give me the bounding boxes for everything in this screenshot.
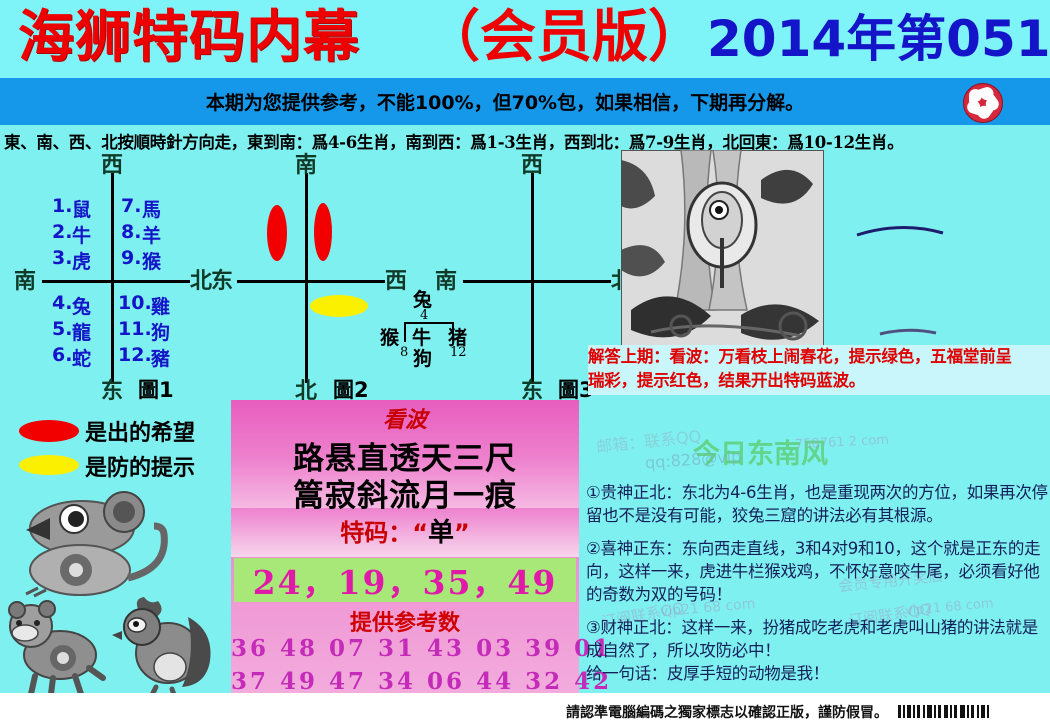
fig1-zodiac-8n: 8.	[121, 221, 141, 243]
fig1-zodiac-3: 虎	[72, 247, 91, 274]
fig1-zodiac-3n: 3.	[52, 247, 72, 269]
zodiac-cluster: 兔 4 猴 8 牛 猪 12 狗	[380, 285, 500, 395]
fig2-yellow-oval	[310, 295, 368, 317]
hongkong-bauhinia-emblem-icon	[963, 83, 1003, 123]
prediction-panel: 看波 路悬直透天三尺 篙寂斜流月一痕 特码：“单” 24，19，35，49 提供…	[231, 400, 579, 710]
fig1-zodiac-11: 狗	[151, 318, 170, 345]
fig2-dir-top: 南	[295, 147, 317, 179]
decorative-arc-1	[855, 222, 945, 238]
rat-illustration	[20, 490, 180, 600]
cluster-left: 猴	[380, 323, 399, 350]
fig1-zodiac-11n: 11.	[118, 318, 152, 340]
footer-notice: 請認準電腦編碼之獨家標志以確認正版，謹防假冒。	[566, 702, 888, 722]
fig1-dir-right: 北	[190, 263, 212, 295]
fig1-zodiac-12: 豬	[151, 344, 170, 371]
fig1-label: 圖1	[138, 374, 174, 404]
tiger-illustration	[5, 600, 110, 695]
fig1-zodiac-5: 龍	[72, 318, 91, 345]
page-title: 海狮特码内幕	[18, 7, 360, 69]
footer-bar	[0, 700, 1050, 725]
cluster-bottom: 狗	[413, 344, 432, 371]
notice-banner-text: 本期为您提供参考，不能100%，但70%包，如果相信，下期再分解。	[0, 78, 1010, 125]
cluster-left-num: 8	[400, 345, 408, 360]
reference-row-1: 36 48 07 31 43 03 39 01	[231, 635, 579, 662]
title-edition: （会员版）	[424, 7, 704, 69]
fig2-red-oval-left	[267, 205, 287, 261]
answer-line-1: 解答上期：看波：万看枝上闹春花，提示绿色，五福堂前呈	[588, 345, 1050, 369]
big-numbers: 24，19，35，49	[234, 558, 576, 602]
tema-value: 单	[428, 518, 454, 548]
watermark-faint-1: 邮箱：联系QQ	[595, 423, 702, 458]
tema-line: 特码：“单”	[231, 512, 579, 549]
fig1-zodiac-4n: 4.	[52, 292, 72, 314]
fig1-zodiac-4: 兔	[72, 292, 91, 319]
legend-label-red: 是出的希望	[85, 415, 195, 447]
watermark-today-wind: 今日东南风	[693, 432, 828, 471]
tema-quote-open: “	[412, 519, 428, 547]
analysis-note-4: 给一句话：皮厚手短的动物是我！	[586, 662, 1050, 685]
fig1-zodiac-9: 猴	[142, 247, 161, 274]
fig1-zodiac-7n: 7.	[121, 195, 141, 217]
answer-line-2: 瑞彩，提示红色，结果开出特码蓝波。	[588, 369, 1050, 393]
barcode-icon	[898, 705, 990, 718]
yellow-oval-icon	[19, 455, 79, 475]
figure-1: 西 南 北 东 圖1 1. 鼠 2. 牛 3. 虎 4. 兔 5. 龍 6. 蛇…	[0, 155, 215, 405]
red-oval-icon	[19, 420, 79, 442]
reference-row-2: 37 49 47 34 06 44 32 42	[231, 668, 579, 695]
kanbo-label: 看波	[231, 402, 579, 434]
fig1-zodiac-12n: 12.	[118, 344, 152, 366]
fig1-zodiac-2: 牛	[72, 221, 91, 248]
fig1-zodiac-6n: 6.	[52, 344, 72, 366]
fig1-zodiac-5n: 5.	[52, 318, 72, 340]
fig1-dir-top: 西	[101, 147, 123, 179]
analysis-note-1: ①贵神正北：东北为4-6生肖，也是重现两次的方位，如果再次停留也不是没有可能，狡…	[586, 481, 1050, 527]
analysis-note-3: ③财神正北：这样一来，扮猪成吃老虎和老虎叫山猪的讲法就是成自然了，所以攻防必中！	[586, 616, 1050, 662]
fig1-zodiac-6: 蛇	[72, 344, 91, 371]
issue-number: 2014年第051期	[707, 10, 1050, 68]
fig1-zodiac-9n: 9.	[121, 247, 141, 269]
fig3-dir-top: 西	[521, 147, 543, 179]
title-bar: 海狮特码内幕 （会员版） 2014年第051期	[0, 0, 1050, 78]
cluster-top-num: 4	[420, 308, 428, 323]
fig1-zodiac-7: 馬	[142, 195, 161, 222]
analysis-notes: ①贵神正北：东北为4-6生肖，也是重现两次的方位，如果再次停留也不是没有可能，狡…	[586, 481, 1050, 695]
fig2-red-oval-right	[314, 203, 332, 261]
dragon-temple-illustration	[621, 150, 824, 350]
cluster-right-num: 12	[450, 345, 467, 360]
fig1-zodiac-2n: 2.	[52, 221, 72, 243]
fig1-zodiac-1n: 1.	[52, 195, 72, 217]
rooster-illustration	[110, 595, 225, 695]
reference-heading: 提供参考数	[231, 605, 579, 637]
fig2-dir-left: 东	[211, 263, 233, 295]
fig1-zodiac-1: 鼠	[72, 195, 91, 222]
previous-issue-answer: 解答上期：看波：万看枝上闹春花，提示绿色，五福堂前呈 瑞彩，提示红色，结果开出特…	[588, 345, 1050, 395]
fig1-zodiac-10: 雞	[151, 292, 170, 319]
tema-quote-close: ”	[454, 519, 470, 547]
decorative-arc-2	[878, 328, 938, 338]
fig1-dir-left: 南	[14, 263, 36, 295]
fig1-dir-bottom: 东	[101, 373, 123, 405]
fig1-zodiac-10n: 10.	[118, 292, 152, 314]
analysis-note-2: ②喜神正东：东向西走直线，3和4对9和10，这个就是正东的走向，这样一来，虎进牛…	[586, 537, 1050, 606]
legend-label-yellow: 是防的提示	[85, 450, 195, 482]
tema-label: 特码：	[340, 519, 412, 547]
poster-page: 海狮特码内幕 （会员版） 2014年第051期 本期为您提供参考，不能100%，…	[0, 0, 1050, 725]
fig1-zodiac-8: 羊	[142, 221, 161, 248]
